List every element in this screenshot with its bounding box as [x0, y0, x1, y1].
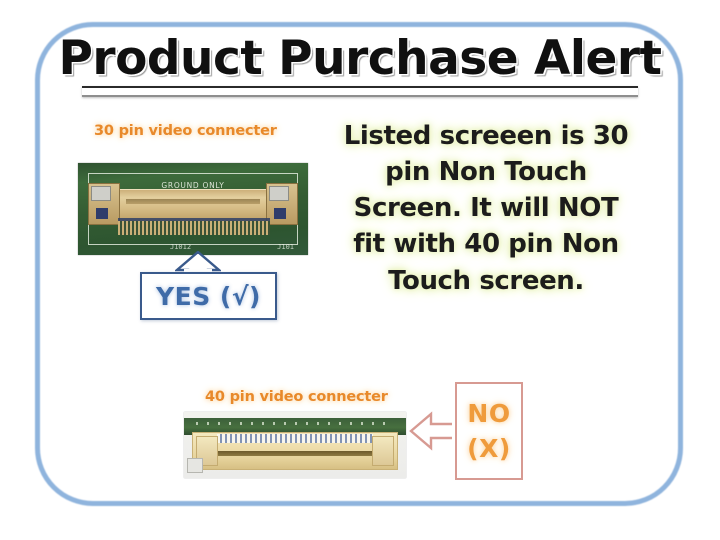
yes-verdict-box: YES (√)	[140, 272, 277, 320]
yes-verdict-label: YES (√)	[156, 282, 261, 311]
pcb-silkscreen-right-label: J101	[277, 243, 294, 251]
connector-40-end-right	[372, 436, 394, 466]
alert-message: Listed screeen is 30 pin Non Touch Scree…	[336, 118, 636, 299]
page-title: Product Purchase Alert	[50, 34, 670, 83]
latch-pad-left	[96, 208, 108, 219]
connector-40-body	[192, 432, 398, 470]
latch-pad-right	[274, 208, 286, 219]
title-underline-rule	[82, 86, 638, 97]
connector-30-photo: GROUND ONLY J1012 J101	[78, 163, 308, 255]
no-verdict-label-line1: NO	[467, 399, 510, 428]
fpc-latch-right	[266, 183, 298, 225]
latch-cap-right	[269, 186, 289, 201]
page-title-block: Product Purchase Alert	[50, 34, 670, 97]
connector-30-pins	[118, 221, 270, 235]
fpc-latch-left	[88, 183, 120, 225]
connector-40-caption: 40 pin video connecter	[205, 389, 388, 405]
connector-40-pins	[217, 434, 373, 443]
connector-40-board-marks	[196, 422, 394, 425]
fpc-connector-slot	[126, 199, 260, 204]
pcb-silkscreen-left-label: J1012	[170, 243, 191, 251]
connector-40-mount-tab	[187, 458, 203, 473]
connector-40-photo	[184, 412, 406, 478]
connector-40-slot	[217, 451, 373, 456]
connector-30-caption: 30 pin video connecter	[94, 123, 277, 139]
alert-graphic-canvas: Product Purchase Alert 30 pin video conn…	[0, 0, 720, 540]
no-verdict-box: NO (X)	[455, 382, 523, 480]
no-verdict-label-line2: (X)	[467, 434, 511, 463]
latch-cap-left	[91, 186, 111, 201]
